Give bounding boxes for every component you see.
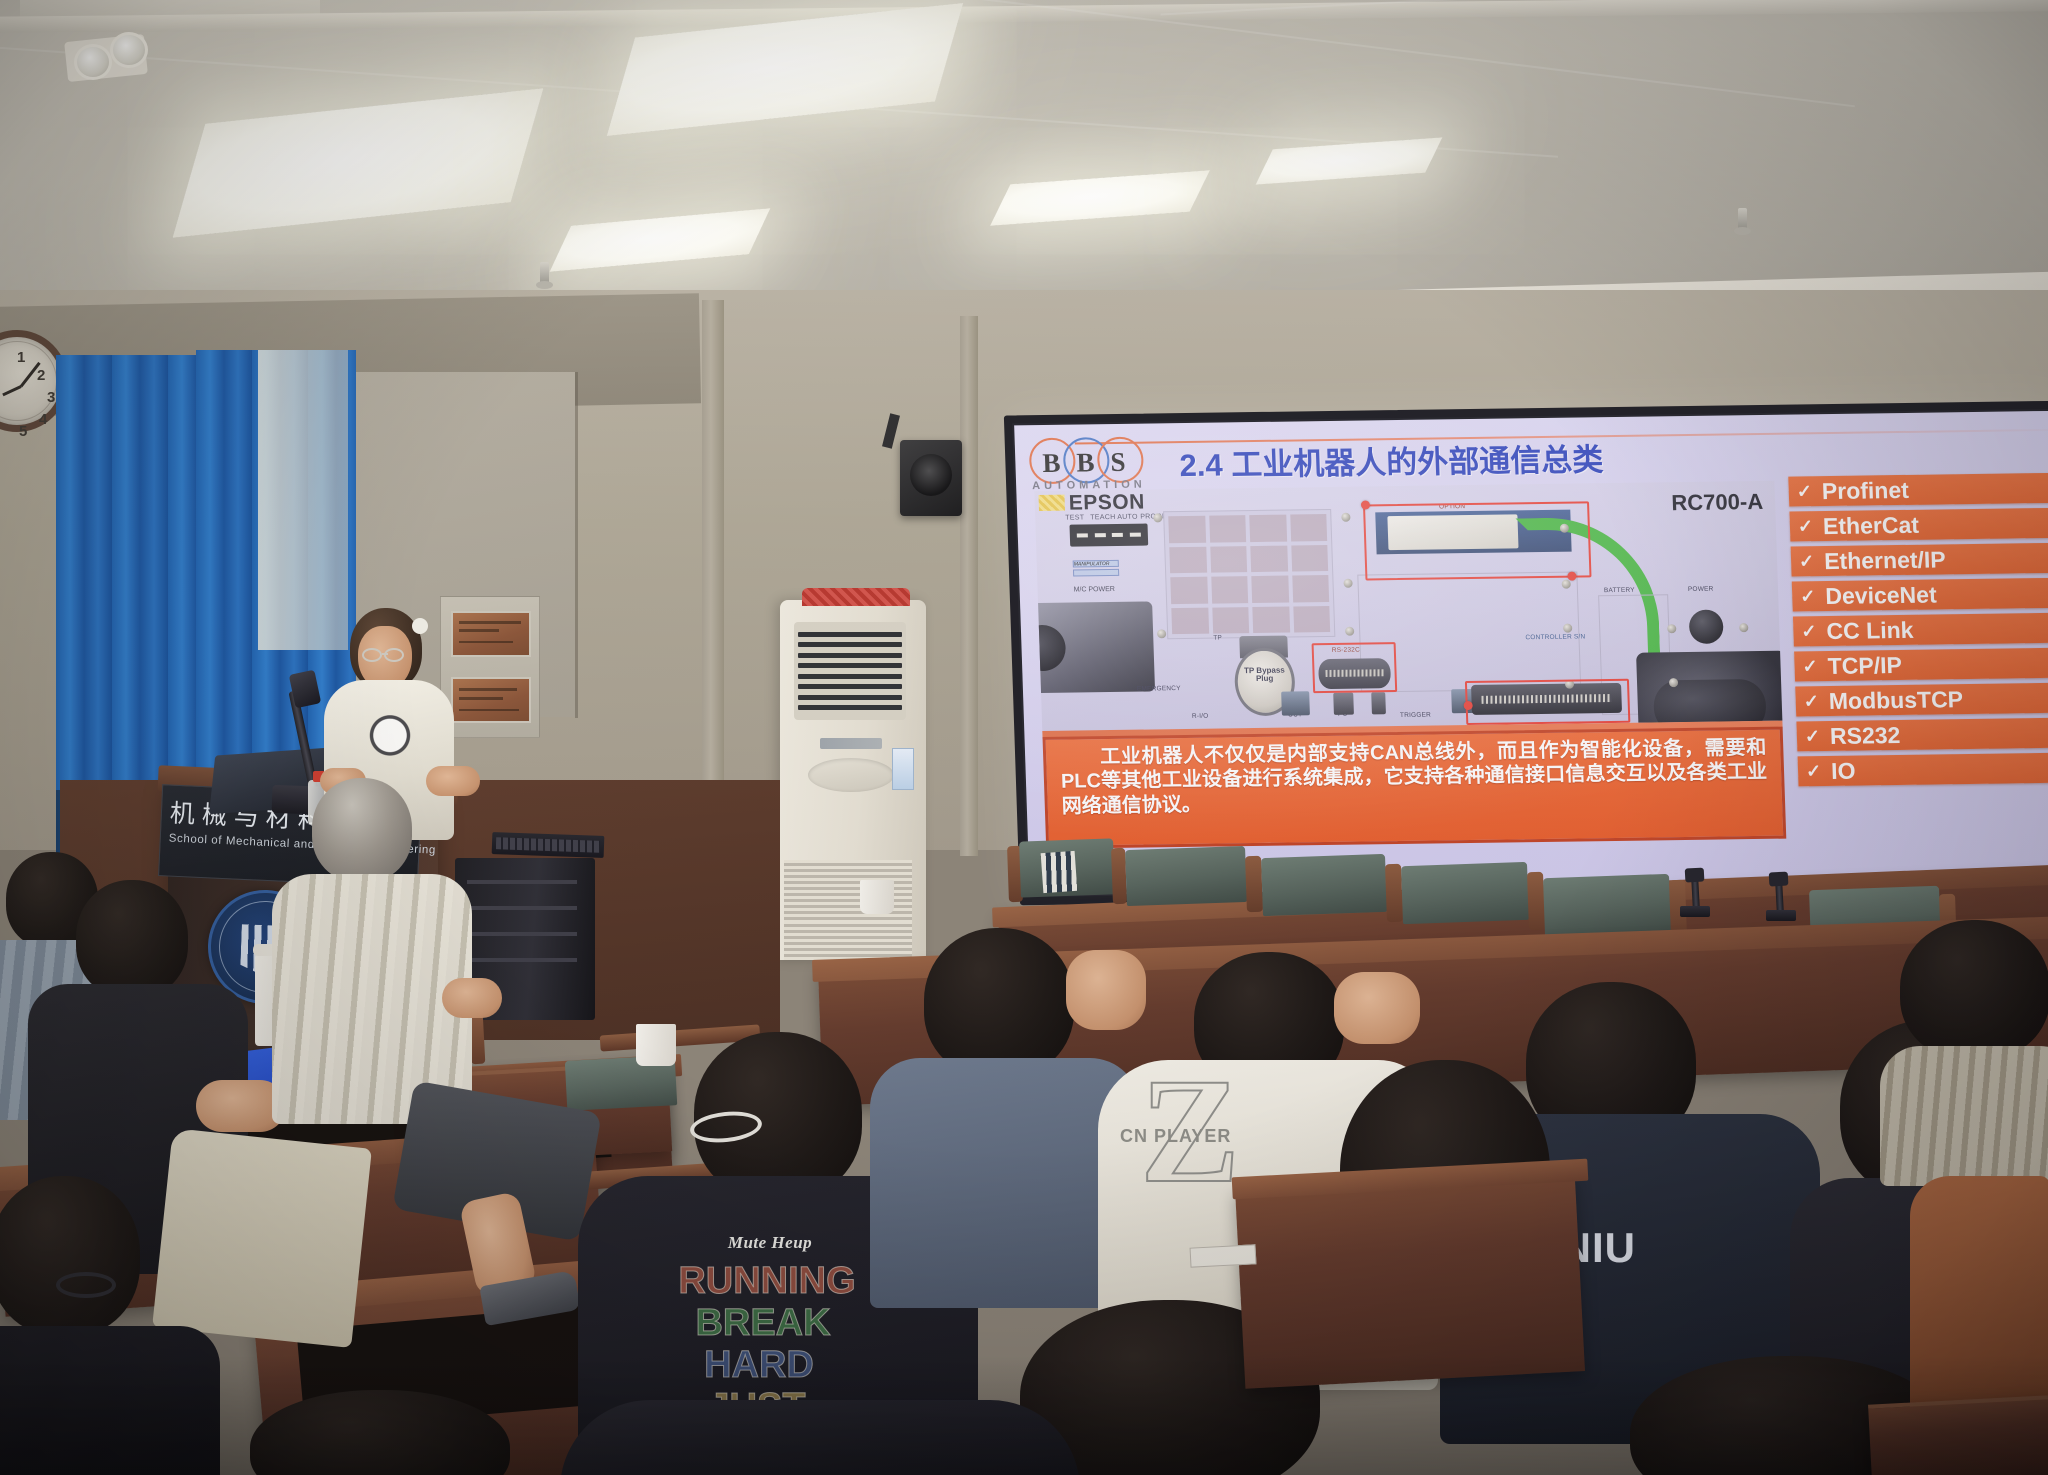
mode-switch-block [1069, 524, 1148, 547]
paper-cup [860, 880, 894, 914]
attendee-head [0, 1176, 140, 1336]
protocol-item-rs232[interactable]: ✓ RS232 [1796, 718, 2048, 752]
epson-brand-label: EPSON [1068, 491, 1145, 516]
spotlight-icon [110, 32, 148, 68]
sprinkler-head-icon [540, 262, 549, 284]
presenter-forearm [426, 766, 480, 796]
protocol-label: ModbusTCP [1828, 686, 1963, 715]
clock-number: 2 [37, 367, 45, 384]
table-microphone[interactable] [1691, 876, 1700, 910]
attendee-shirt [1880, 1046, 2048, 1186]
mode-label-test: TEST [1065, 514, 1084, 521]
attendee-head [1900, 920, 2048, 1060]
wall-plaque [451, 611, 531, 657]
plaque-board [440, 596, 540, 738]
label-emergency: EMERGENCY [1137, 685, 1181, 693]
logo-letter: S [1110, 447, 1126, 478]
bag-strap [1041, 851, 1078, 893]
check-icon: ✓ [1798, 516, 1814, 537]
highlight-option-slot [1363, 501, 1592, 580]
pc-usb-port [1333, 693, 1354, 715]
air-conditioner [780, 600, 926, 960]
ac-cloth-cover [802, 588, 910, 606]
protocol-label: RS232 [1830, 721, 1901, 749]
logo-letter: B [1076, 447, 1095, 478]
table-microphone-base [1680, 906, 1710, 917]
wall-plaque [451, 677, 531, 723]
seat-back [1261, 854, 1387, 916]
highlight-marker-dot [1361, 500, 1370, 509]
logo-letter: B [1042, 448, 1061, 479]
attendee-torso [560, 1400, 1080, 1475]
check-icon: ✓ [1805, 726, 1821, 747]
check-icon: ✓ [1796, 481, 1812, 502]
glasses-icon [384, 648, 404, 662]
attendee-head [312, 778, 412, 882]
wall-speaker [900, 440, 962, 516]
check-icon: ✓ [1802, 656, 1818, 677]
protocol-label: Ethernet/IP [1824, 546, 1946, 575]
ac-energy-label [892, 748, 914, 790]
mode-label-teach: TEACH [1090, 514, 1115, 521]
label-manipulator-2 [1073, 569, 1119, 577]
manipulator-connector [1034, 601, 1155, 693]
mode-label-auto: AUTO [1117, 514, 1138, 521]
tshirt-graffiti-line-2: BREAK [618, 1304, 908, 1343]
callout-text: 工业机器人不仅仅是内部支持CAN总线外，而且作为智能化设备，需要和PLC等其他工… [1060, 736, 1768, 819]
ac-brand-logo [820, 738, 882, 749]
ac-display-panel[interactable] [808, 758, 894, 792]
controller-model-label: RC700-A [1671, 489, 1764, 516]
paper-cup [636, 1024, 676, 1066]
check-icon: ✓ [1803, 691, 1819, 712]
controller-vent-grid [1163, 509, 1335, 639]
hair-tie [412, 618, 428, 634]
out-port [1281, 691, 1310, 715]
label-tp: TP [1213, 634, 1222, 641]
attendee-hand-raised [1334, 972, 1420, 1044]
protocol-item-ethercat[interactable]: ✓ EtherCat [1789, 508, 2048, 542]
tshirt-graffiti-line-1: RUNNING [622, 1262, 912, 1301]
seat-back [1543, 874, 1671, 936]
label-controller-serial: CONTROLLER S/N [1525, 633, 1585, 641]
check-icon: ✓ [1800, 586, 1816, 607]
attendee-arm [442, 978, 502, 1018]
clock-number: 4 [39, 411, 47, 428]
tshirt-cn-player-text: CN PLAYER [1120, 1126, 1231, 1147]
highlight-rs232c [1312, 642, 1398, 693]
protocol-item-ethernet-ip[interactable]: ✓ Ethernet/IP [1791, 543, 2048, 577]
clock-number: 1 [17, 349, 25, 366]
protocol-item-devicenet[interactable]: ✓ DeviceNet [1792, 578, 2048, 612]
tshirt-brand-script: Mute Heup [690, 1234, 850, 1252]
highlight-marker-dot [1464, 701, 1473, 710]
power-switch-knob[interactable] [1689, 609, 1724, 643]
wall-pillar [960, 316, 978, 856]
control-keyboard[interactable] [492, 832, 605, 858]
seat-back [1401, 862, 1529, 924]
protocol-label: CC Link [1826, 616, 1914, 644]
protocol-label: TCP/IP [1827, 651, 1902, 679]
label-trigger: TRIGGER [1400, 712, 1431, 719]
attendee-head [76, 880, 188, 998]
label-rio: R-I/O [1192, 713, 1209, 720]
label-mc-power: M/C POWER [1074, 586, 1115, 594]
table-microphone[interactable] [1775, 880, 1784, 914]
highlight-marker-dot [1567, 572, 1576, 581]
table-microphone-base [1766, 910, 1796, 921]
window-sheer [258, 350, 348, 650]
protocol-item-io[interactable]: ✓ IO [1798, 753, 2048, 787]
clock-number: 3 [47, 389, 55, 406]
desk-right-row [1235, 1171, 1585, 1389]
clock-number: 5 [19, 423, 27, 440]
attendee-trousers [152, 1128, 372, 1348]
bbs-automation-logo: B B S AUTOMATION [1029, 434, 1167, 492]
projection-screen: B B S AUTOMATION 2.4 工业机器人的外部通信总类 EPSON … [1004, 401, 2048, 906]
wall-seam [575, 372, 578, 718]
protocol-label: Profinet [1821, 476, 1909, 504]
epson-controller-photo: EPSON RC700-A TEST TEACH AUTO PROGRAM MA… [1034, 481, 1782, 731]
wall-pillar [702, 300, 724, 860]
attendee-head [924, 928, 1074, 1078]
tshirt-graffiti-line-3: HARD [614, 1346, 904, 1385]
connector-label-stack: MANIPULATOR [1073, 560, 1120, 579]
protocol-item-profinet[interactable]: ✓ Profinet [1788, 473, 2048, 507]
desk-right-edge [1868, 1395, 2048, 1475]
check-icon: ✓ [1806, 761, 1822, 782]
check-icon: ✓ [1801, 621, 1817, 642]
label-power: POWER [1688, 586, 1714, 593]
protocol-label: EtherCat [1823, 511, 1920, 539]
seat-back [1125, 846, 1247, 906]
epson-logo-mark [1038, 495, 1065, 511]
protocol-list: ✓ Profinet ✓ EtherCat ✓ Ethernet/IP ✓ De… [1788, 473, 2048, 786]
protocol-item-modbustcp[interactable]: ✓ ModbusTCP [1795, 683, 2048, 717]
protocol-label: DeviceNet [1825, 581, 1937, 610]
glasses-icon [56, 1272, 116, 1298]
slide-title: 2.4 工业机器人的外部通信总类 [1179, 434, 1604, 485]
spotlight-icon [74, 44, 112, 80]
protocol-item-cc-link[interactable]: ✓ CC Link [1793, 613, 2048, 647]
slide-callout-box: 工业机器人不仅仅是内部支持CAN总线外，而且作为智能化设备，需要和PLC等其他工… [1043, 727, 1787, 849]
tshirt-cat-graphic [358, 712, 422, 764]
lecture-hall-photo: 1 2 3 4 5 [0, 0, 2048, 1475]
cable-connector-closeup [1636, 651, 1782, 731]
label-battery: BATTERY [1604, 587, 1635, 594]
label-manipulator: MANIPULATOR [1073, 560, 1119, 568]
protocol-item-tcp-ip[interactable]: ✓ TCP/IP [1794, 648, 2048, 682]
check-icon: ✓ [1799, 551, 1815, 572]
attendee-hand-raised [1066, 950, 1146, 1030]
aux-port [1371, 692, 1386, 714]
glasses-icon [362, 648, 382, 662]
ac-air-outlet-grille [794, 622, 906, 720]
presentation-slide: B B S AUTOMATION 2.4 工业机器人的外部通信总类 EPSON … [1014, 411, 2048, 895]
protocol-label: IO [1831, 757, 1856, 784]
attendee-torso [0, 1326, 220, 1475]
desk-seat-number-plate [1190, 1244, 1257, 1267]
highlight-io-connector [1465, 679, 1630, 725]
sprinkler-head-icon [1738, 208, 1747, 230]
